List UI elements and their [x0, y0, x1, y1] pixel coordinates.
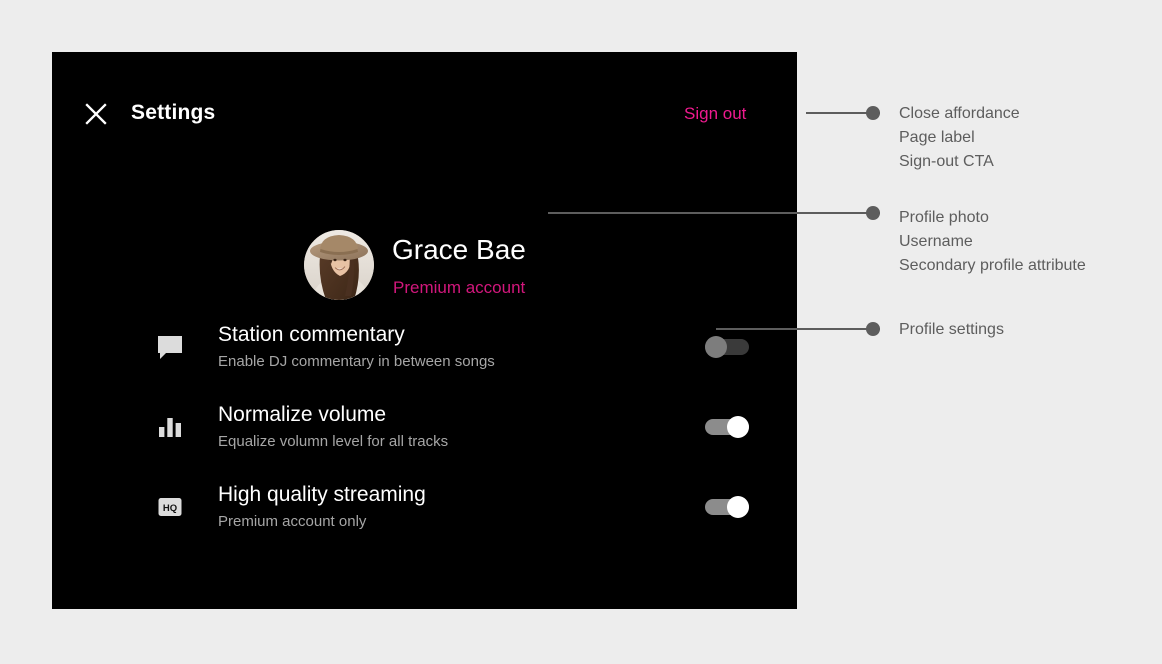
- setting-title: High quality streaming: [218, 481, 426, 509]
- callout-line: Profile settings: [899, 318, 1004, 342]
- callout-profile: Profile photo Username Secondary profile…: [899, 206, 1086, 278]
- callout-header: Close affordance Page label Sign-out CTA: [899, 102, 1020, 174]
- leader-line-header: [806, 106, 880, 120]
- leader-dot: [866, 322, 880, 336]
- leader-dot: [866, 206, 880, 220]
- setting-text: High quality streaming Premium account o…: [218, 481, 426, 533]
- profile-block: Grace Bae Premium account: [52, 172, 797, 302]
- setting-row-normalize-volume[interactable]: Normalize volume Equalize volumn level f…: [52, 387, 797, 467]
- settings-panel: Settings Sign out: [52, 52, 797, 609]
- callout-line: Username: [899, 230, 1086, 254]
- toggle-high-quality-streaming[interactable]: [705, 496, 749, 518]
- callout-line: Close affordance: [899, 102, 1020, 126]
- callout-line: Secondary profile attribute: [899, 254, 1086, 278]
- leader-line-profile: [548, 206, 880, 220]
- leader-dot: [866, 106, 880, 120]
- sign-out-button[interactable]: Sign out: [684, 102, 746, 126]
- setting-title: Station commentary: [218, 321, 495, 349]
- toggle-knob: [727, 416, 749, 438]
- setting-row-high-quality-streaming[interactable]: HQ High quality streaming Premium accoun…: [52, 467, 797, 547]
- page-title: Settings: [131, 99, 215, 127]
- svg-text:HQ: HQ: [163, 503, 177, 514]
- leader-line: [716, 328, 880, 330]
- close-button[interactable]: [79, 97, 113, 131]
- profile-photo-icon: [304, 230, 374, 300]
- setting-text: Normalize volume Equalize volumn level f…: [218, 401, 448, 453]
- callout-line: Sign-out CTA: [899, 150, 1020, 174]
- toggle-knob: [705, 336, 727, 358]
- setting-text: Station commentary Enable DJ commentary …: [218, 321, 495, 373]
- app-bar: Settings Sign out: [52, 52, 797, 170]
- callout-line: Page label: [899, 126, 1020, 150]
- callout-settings: Profile settings: [899, 318, 1004, 342]
- callout-line: Profile photo: [899, 206, 1086, 230]
- leader-line: [548, 212, 880, 214]
- speech-bubble-icon: [153, 330, 187, 364]
- leader-line-settings: [716, 322, 880, 336]
- close-icon: [84, 102, 108, 126]
- profile-name: Grace Bae: [392, 232, 526, 268]
- hq-badge-icon: HQ: [153, 490, 187, 524]
- bar-chart-icon: [153, 410, 187, 444]
- toggle-knob: [727, 496, 749, 518]
- toggle-station-commentary[interactable]: [705, 336, 749, 358]
- avatar[interactable]: [304, 230, 374, 300]
- settings-list: Station commentary Enable DJ commentary …: [52, 307, 797, 547]
- setting-row-station-commentary[interactable]: Station commentary Enable DJ commentary …: [52, 307, 797, 387]
- profile-subtitle: Premium account: [393, 276, 525, 300]
- setting-description: Enable DJ commentary in between songs: [218, 351, 495, 373]
- setting-description: Premium account only: [218, 511, 426, 533]
- setting-title: Normalize volume: [218, 401, 448, 429]
- toggle-normalize-volume[interactable]: [705, 416, 749, 438]
- setting-description: Equalize volumn level for all tracks: [218, 431, 448, 453]
